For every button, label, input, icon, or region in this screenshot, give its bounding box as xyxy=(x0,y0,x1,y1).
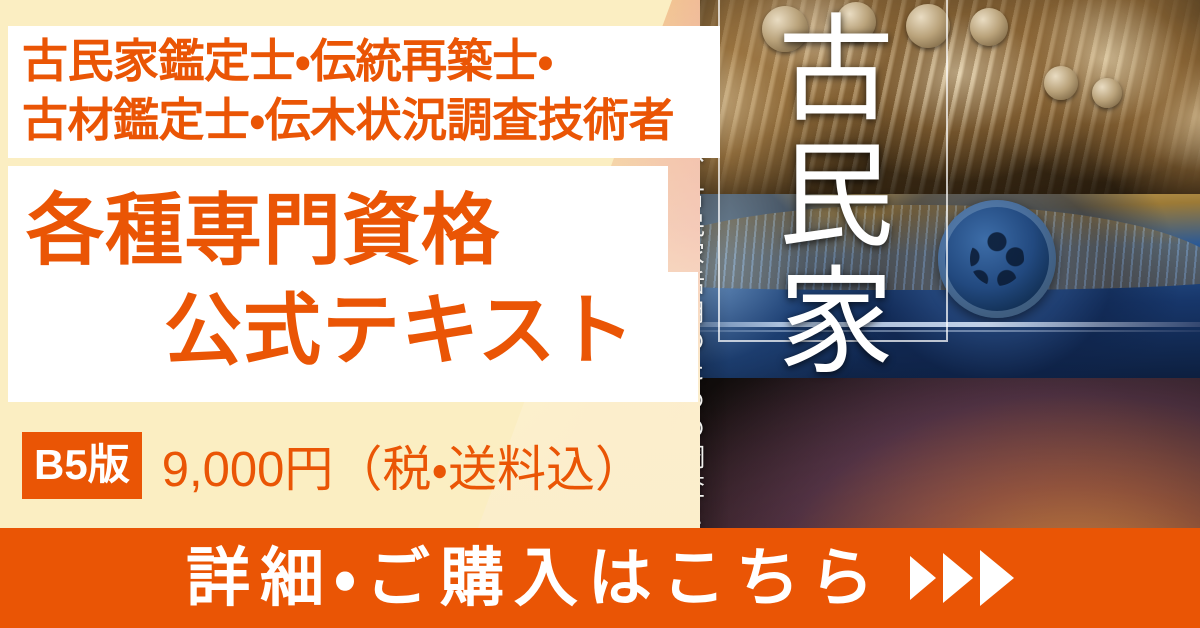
cta-label: 詳細・ご購入はこちら xyxy=(186,546,884,610)
certifications-text: 古民家鑑定士・伝統再築士・ 古材鑑定士・伝木状況調査技術者 xyxy=(16,32,722,150)
promo-banner: 古民家 伝統構法、古民家活用のための調査と再生の 古民家鑑定士・伝統再築士・ 古… xyxy=(0,0,1200,628)
headline-line-2: 公式テキスト xyxy=(16,280,676,380)
book-cover-photo: 古民家 伝統構法、古民家活用のための調査と再生の xyxy=(640,0,1200,540)
certifications-line-2: 古材鑑定士・伝木状況調査技術者 xyxy=(16,91,722,150)
price-row: B5版 9,000円（税・送料込） xyxy=(22,430,644,501)
cover-title: 古民家 xyxy=(736,8,886,386)
cta-arrows xyxy=(910,550,1014,606)
headline-text: 各種専門資格 公式テキスト xyxy=(16,180,676,380)
triangle-right-icon xyxy=(943,553,973,603)
cta-button[interactable]: 詳細・ご購入はこちら xyxy=(0,528,1200,628)
price-text: 9,000円（税・送料込） xyxy=(162,430,644,501)
format-badge: B5版 xyxy=(22,432,142,499)
certifications-line-1: 古民家鑑定士・伝統再築士・ xyxy=(16,32,722,91)
headline-line-1: 各種専門資格 xyxy=(16,180,676,280)
triangle-right-icon xyxy=(980,550,1014,606)
triangle-right-icon xyxy=(910,556,936,600)
